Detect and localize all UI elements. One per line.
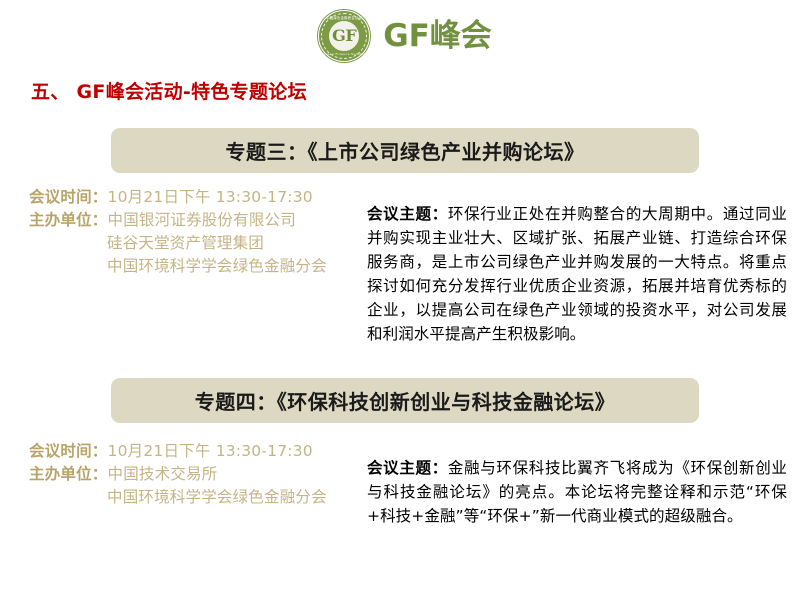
topic-theme-label-4: 会议主题：	[367, 459, 448, 477]
gf-circular-seal-logo-icon: 中国绿色金融峰会论坛 GF Green Finance Summit	[317, 9, 371, 63]
topic-theme-paragraph-4: 会议主题：金融与环保科技比翼齐飞将成为《环保创新创业与科技金融论坛》的亮点。本论…	[367, 456, 787, 528]
topic-theme-text-3: 环保行业正处在并购整合的大周期中。通过同业并购实现主业壮大、区域扩张、拓展产业链…	[367, 205, 787, 343]
organizer-value-4-0: 中国技术交易所	[108, 463, 218, 486]
meeting-time-row-3: 会议时间： 10月21日下午 13:30-17:30	[29, 186, 359, 209]
meeting-time-label-4: 会议时间：	[29, 440, 108, 463]
topic-theme-column-3: 会议主题：环保行业正处在并购整合的大周期中。通过同业并购实现主业壮大、区域扩张、…	[367, 186, 787, 361]
organizer-value-3-2: 中国环境科学学会绿色金融分会	[29, 255, 359, 278]
meeting-time-value-3: 10月21日下午 13:30-17:30	[108, 186, 313, 209]
topic-banner-title-4: 专题四：《环保科技创新创业与科技金融论坛》	[195, 386, 616, 415]
topic-theme-paragraph-3: 会议主题：环保行业正处在并购整合的大周期中。通过同业并购实现主业壮大、区域扩张、…	[367, 202, 787, 346]
topic-meta-column-3: 会议时间： 10月21日下午 13:30-17:30 主办单位： 中国银河证券股…	[29, 186, 359, 278]
topic-theme-column-4: 会议主题：金融与环保科技比翼齐飞将成为《环保创新创业与科技金融论坛》的亮点。本论…	[367, 440, 787, 543]
topic-banner-4: 专题四：《环保科技创新创业与科技金融论坛》	[111, 378, 699, 423]
organizer-label-4: 主办单位：	[29, 463, 108, 486]
meeting-time-label-3: 会议时间：	[29, 186, 108, 209]
topic-theme-label-3: 会议主题：	[367, 205, 448, 223]
brand-title: GF峰会	[383, 21, 492, 52]
topic-banner-3: 专题三：《上市公司绿色产业并购论坛》	[111, 128, 699, 173]
seal-center-text: GF	[332, 28, 356, 44]
organizer-row-4: 主办单位： 中国技术交易所	[29, 463, 359, 486]
seal-ring-top-text: 中国绿色金融峰会论坛	[317, 17, 371, 20]
meeting-time-row-4: 会议时间： 10月21日下午 13:30-17:30	[29, 440, 359, 463]
page-title: 五、 GF峰会活动-特色专题论坛	[31, 77, 307, 104]
organizer-label-3: 主办单位：	[29, 209, 108, 232]
topic-banner-title-3: 专题三：《上市公司绿色产业并购论坛》	[226, 136, 585, 165]
organizer-row-3: 主办单位： 中国银河证券股份有限公司	[29, 209, 359, 232]
seal-ring-bottom-text: Green Finance Summit	[317, 53, 371, 56]
organizer-value-3-1: 硅谷天堂资产管理集团	[29, 232, 359, 255]
topic-meta-column-4: 会议时间： 10月21日下午 13:30-17:30 主办单位： 中国技术交易所…	[29, 440, 359, 509]
organizer-value-4-1: 中国环境科学学会绿色金融分会	[29, 486, 359, 509]
page-header: 中国绿色金融峰会论坛 GF Green Finance Summit GF峰会	[0, 4, 809, 68]
organizer-value-3-0: 中国银河证券股份有限公司	[108, 209, 296, 232]
meeting-time-value-4: 10月21日下午 13:30-17:30	[108, 440, 313, 463]
